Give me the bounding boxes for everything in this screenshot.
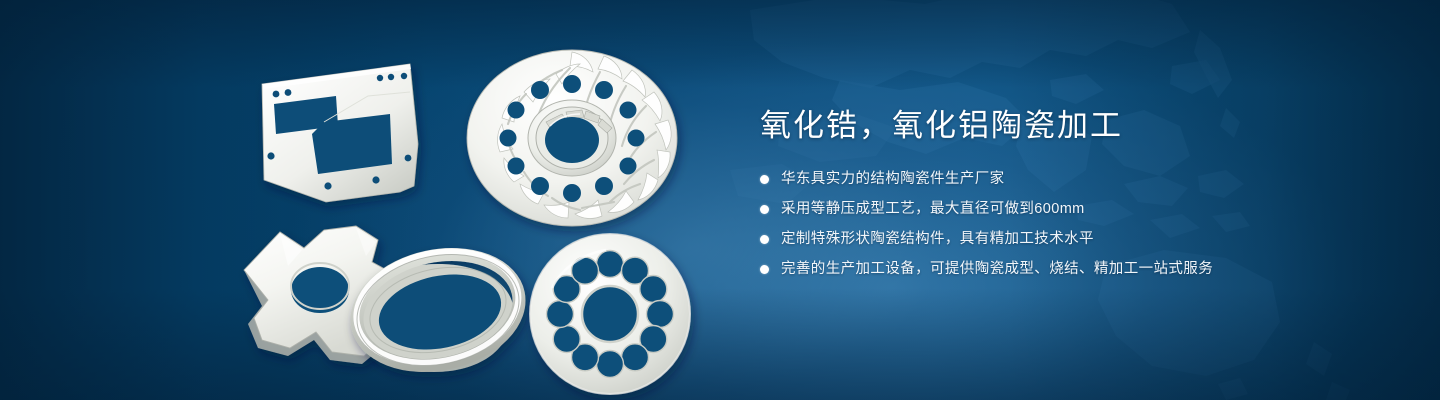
- feature-list: 华东具实力的结构陶瓷件生产厂家 采用等静压成型工艺，最大直径可做到600mm 定…: [760, 168, 1410, 280]
- list-item-label: 定制特殊形状陶瓷结构件，具有精加工技术水平: [781, 228, 1094, 250]
- list-item: 完善的生产加工设备，可提供陶瓷成型、烧结、精加工一站式服务: [760, 258, 1410, 280]
- ceramic-plate: [262, 64, 418, 202]
- bullet-dot-icon: [760, 235, 769, 244]
- ceramic-processing-banner: 氧化锆，氧化铝陶瓷加工 华东具实力的结构陶瓷件生产厂家 采用等静压成型工艺，最大…: [0, 0, 1440, 400]
- list-item: 采用等静压成型工艺，最大直径可做到600mm: [760, 198, 1410, 220]
- list-item: 定制特殊形状陶瓷结构件，具有精加工技术水平: [760, 228, 1410, 250]
- banner-copy: 氧化锆，氧化铝陶瓷加工 华东具实力的结构陶瓷件生产厂家 采用等静压成型工艺，最大…: [760, 106, 1410, 280]
- bullet-dot-icon: [760, 265, 769, 274]
- page-title: 氧化锆，氧化铝陶瓷加工: [760, 106, 1410, 146]
- bullet-dot-icon: [760, 175, 769, 184]
- list-item-label: 采用等静压成型工艺，最大直径可做到600mm: [781, 198, 1085, 220]
- bullet-dot-icon: [760, 205, 769, 214]
- ceramic-ring: [346, 237, 529, 380]
- ceramic-products-image: [228, 34, 698, 384]
- ceramic-impeller: [467, 50, 677, 226]
- list-item-label: 完善的生产加工设备，可提供陶瓷成型、烧结、精加工一站式服务: [781, 258, 1213, 280]
- list-item-label: 华东具实力的结构陶瓷件生产厂家: [781, 168, 1005, 190]
- list-item: 华东具实力的结构陶瓷件生产厂家: [760, 168, 1410, 190]
- ceramic-perforated-disc: [530, 234, 690, 394]
